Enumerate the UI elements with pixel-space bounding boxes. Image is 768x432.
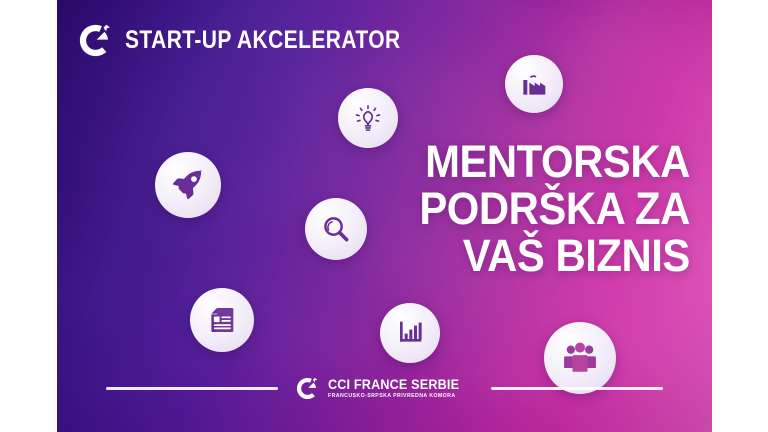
headline-line-2: PODRŠKA ZA	[420, 187, 690, 231]
magnifier-icon[interactable]	[305, 198, 367, 260]
footer-rule-left	[106, 387, 278, 390]
document-icon[interactable]	[190, 288, 254, 352]
footer-rule-right	[491, 387, 663, 390]
cci-logo-mark-icon	[77, 22, 114, 59]
left-white-margin	[0, 0, 57, 432]
headline-line-1: MENTORSKA	[420, 140, 690, 184]
footer-org-name: CCI FRANCE SERBIE	[328, 377, 459, 392]
rocket-icon[interactable]	[155, 152, 221, 218]
poster-canvas: START-UP AKCELERATOR	[0, 0, 768, 432]
lightbulb-icon[interactable]	[338, 88, 398, 148]
footer-text-block: CCI FRANCE SERBIE FRANCUSKO-SRPSKA PRIVR…	[328, 377, 474, 400]
footer-org-subtitle: FRANCUSKO-SRPSKA PRIVREDNA KOMORA	[328, 393, 456, 399]
header-title: START-UP AKCELERATOR	[125, 28, 401, 53]
header-lockup: START-UP AKCELERATOR	[77, 22, 453, 59]
right-white-margin	[712, 0, 768, 432]
footer-logo-lockup: CCI FRANCE SERBIE FRANCUSKO-SRPSKA PRIVR…	[295, 376, 474, 401]
headline-line-3: VAŠ BIZNIS	[420, 234, 690, 278]
banner-background: START-UP AKCELERATOR	[57, 0, 712, 432]
cci-logo-mark-icon	[295, 376, 320, 401]
footer: CCI FRANCE SERBIE FRANCUSKO-SRPSKA PRIVR…	[57, 366, 712, 410]
headline: MENTORSKA PODRŠKA ZA VAŠ BIZNIS	[399, 140, 690, 278]
bar-chart-icon[interactable]	[380, 303, 440, 363]
factory-icon[interactable]	[505, 55, 563, 113]
